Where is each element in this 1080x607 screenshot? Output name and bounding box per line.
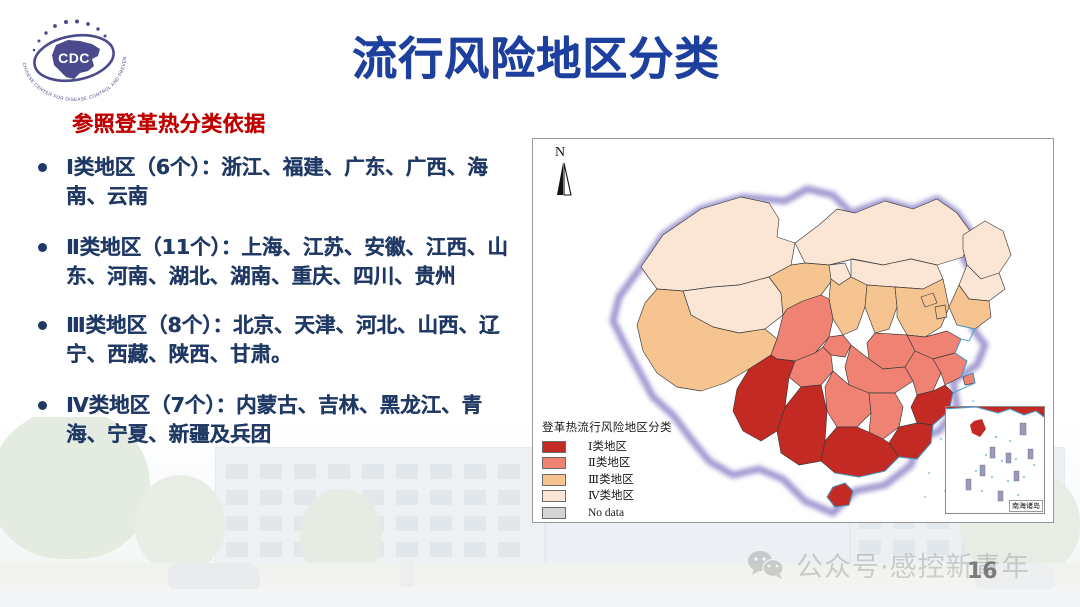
legend-title: 登革热流行风险地区分类 [542, 419, 717, 435]
map-legend: 登革热流行风险地区分类 Ⅰ类地区 Ⅱ类地区 Ⅲ类地区 Ⅳ类地区 No data [542, 419, 717, 522]
section-heading: 参照登革热分类依据 [72, 108, 520, 138]
list-item: Ⅳ类地区（7个）：内蒙古、吉林、黑龙江、青海、宁夏、新疆及兵团 [36, 391, 520, 449]
photo-window [464, 490, 486, 505]
north-label: N [555, 145, 565, 161]
china-risk-choropleth-map: N 登革热流行风险地区分类 Ⅰ类地区 Ⅱ类地区 Ⅲ类地区 Ⅳ类地区 No dat… [532, 138, 1054, 523]
photo-window [1029, 540, 1051, 555]
legend-swatch [542, 457, 566, 469]
bullet-dot-icon [38, 321, 47, 330]
photo-window [260, 490, 282, 505]
photo-window [396, 490, 418, 505]
photo-road [0, 585, 1080, 607]
bullet-dot-icon [38, 243, 47, 252]
photo-person [400, 557, 414, 587]
legend-label: Ⅰ类地区 [588, 441, 627, 453]
photo-window [226, 516, 248, 531]
legend-swatch [542, 474, 566, 486]
photo-window [294, 542, 316, 557]
list-item: Ⅱ类地区（11个）：上海、江苏、安徽、江西、山东、河南、湖北、湖南、重庆、四川、… [36, 233, 520, 291]
list-item-label: Ⅲ类地区（8个）：北京、天津、河北、山西、辽宁、西藏、陕西、甘肃。 [66, 313, 499, 366]
list-item-label: Ⅰ类地区（6个）：浙江、福建、广东、广西、海南、云南 [66, 155, 488, 208]
list-item-label: Ⅳ类地区（7个）：内蒙古、吉林、黑龙江、青海、宁夏、新疆及兵团 [66, 393, 482, 446]
list-item: Ⅰ类地区（6个）：浙江、福建、广东、广西、海南、云南 [36, 153, 520, 211]
photo-window [396, 516, 418, 531]
photo-window [328, 490, 350, 505]
photo-tree [135, 475, 225, 571]
legend-label: Ⅳ类地区 [588, 490, 634, 502]
region-classification-list: Ⅰ类地区（6个）：浙江、福建、广东、广西、海南、云南 Ⅱ类地区（11个）：上海、… [0, 153, 520, 449]
photo-window [430, 542, 452, 557]
legend-label: Ⅱ类地区 [588, 457, 630, 469]
photo-window [362, 490, 384, 505]
legend-item-class-1: Ⅰ类地区 [542, 439, 717, 454]
legend-swatch [542, 507, 566, 519]
content-panel: 参照登革热分类依据 Ⅰ类地区（6个）：浙江、福建、广东、广西、海南、云南 Ⅱ类地… [0, 108, 520, 471]
photo-window [328, 542, 350, 557]
photo-window [498, 516, 520, 531]
legend-item-no-data: No data [542, 505, 717, 520]
legend-item-class-4: Ⅳ类地区 [542, 489, 717, 504]
list-item-label: Ⅱ类地区（11个）：上海、江苏、安徽、江西、山东、河南、湖北、湖南、重庆、四川、… [66, 235, 508, 288]
photo-window [226, 542, 248, 557]
bullet-dot-icon [38, 163, 47, 172]
photo-window [464, 542, 486, 557]
page-title: 流行风险地区分类 [352, 22, 720, 87]
legend-swatch [542, 441, 566, 453]
list-item: Ⅲ类地区（8个）：北京、天津、河北、山西、辽宁、西藏、陕西、甘肃。 [36, 311, 520, 369]
legend-label: Ⅲ类地区 [588, 474, 634, 486]
south-china-sea-inset: 南海诸岛 [945, 406, 1045, 514]
wechat-icon [746, 550, 786, 580]
page-number: 16 [967, 559, 998, 584]
photo-window [362, 542, 384, 557]
photo-window [498, 490, 520, 505]
inset-label: 南海诸岛 [1009, 500, 1043, 512]
photo-window [294, 516, 316, 531]
north-arrow-icon: N [549, 147, 583, 203]
legend-swatch [542, 490, 566, 502]
photo-window [260, 542, 282, 557]
svg-text:CDC: CDC [58, 50, 90, 66]
photo-window [430, 516, 452, 531]
photo-window [430, 490, 452, 505]
photo-window [294, 490, 316, 505]
photo-window [260, 516, 282, 531]
bullet-dot-icon [38, 401, 47, 410]
photo-window [464, 516, 486, 531]
photo-window [396, 542, 418, 557]
photo-tree [300, 489, 382, 579]
photo-car [168, 563, 260, 589]
photo-window [362, 516, 384, 531]
china-cdc-logo: CDC CHINESE CENTER FOR DISEASE CONTROL A… [16, 11, 132, 104]
legend-label: No data [588, 507, 624, 519]
photo-window [328, 516, 350, 531]
photo-window [498, 542, 520, 557]
legend-item-class-2: Ⅱ类地区 [542, 456, 717, 471]
photo-window [226, 490, 248, 505]
legend-item-class-3: Ⅲ类地区 [542, 472, 717, 487]
